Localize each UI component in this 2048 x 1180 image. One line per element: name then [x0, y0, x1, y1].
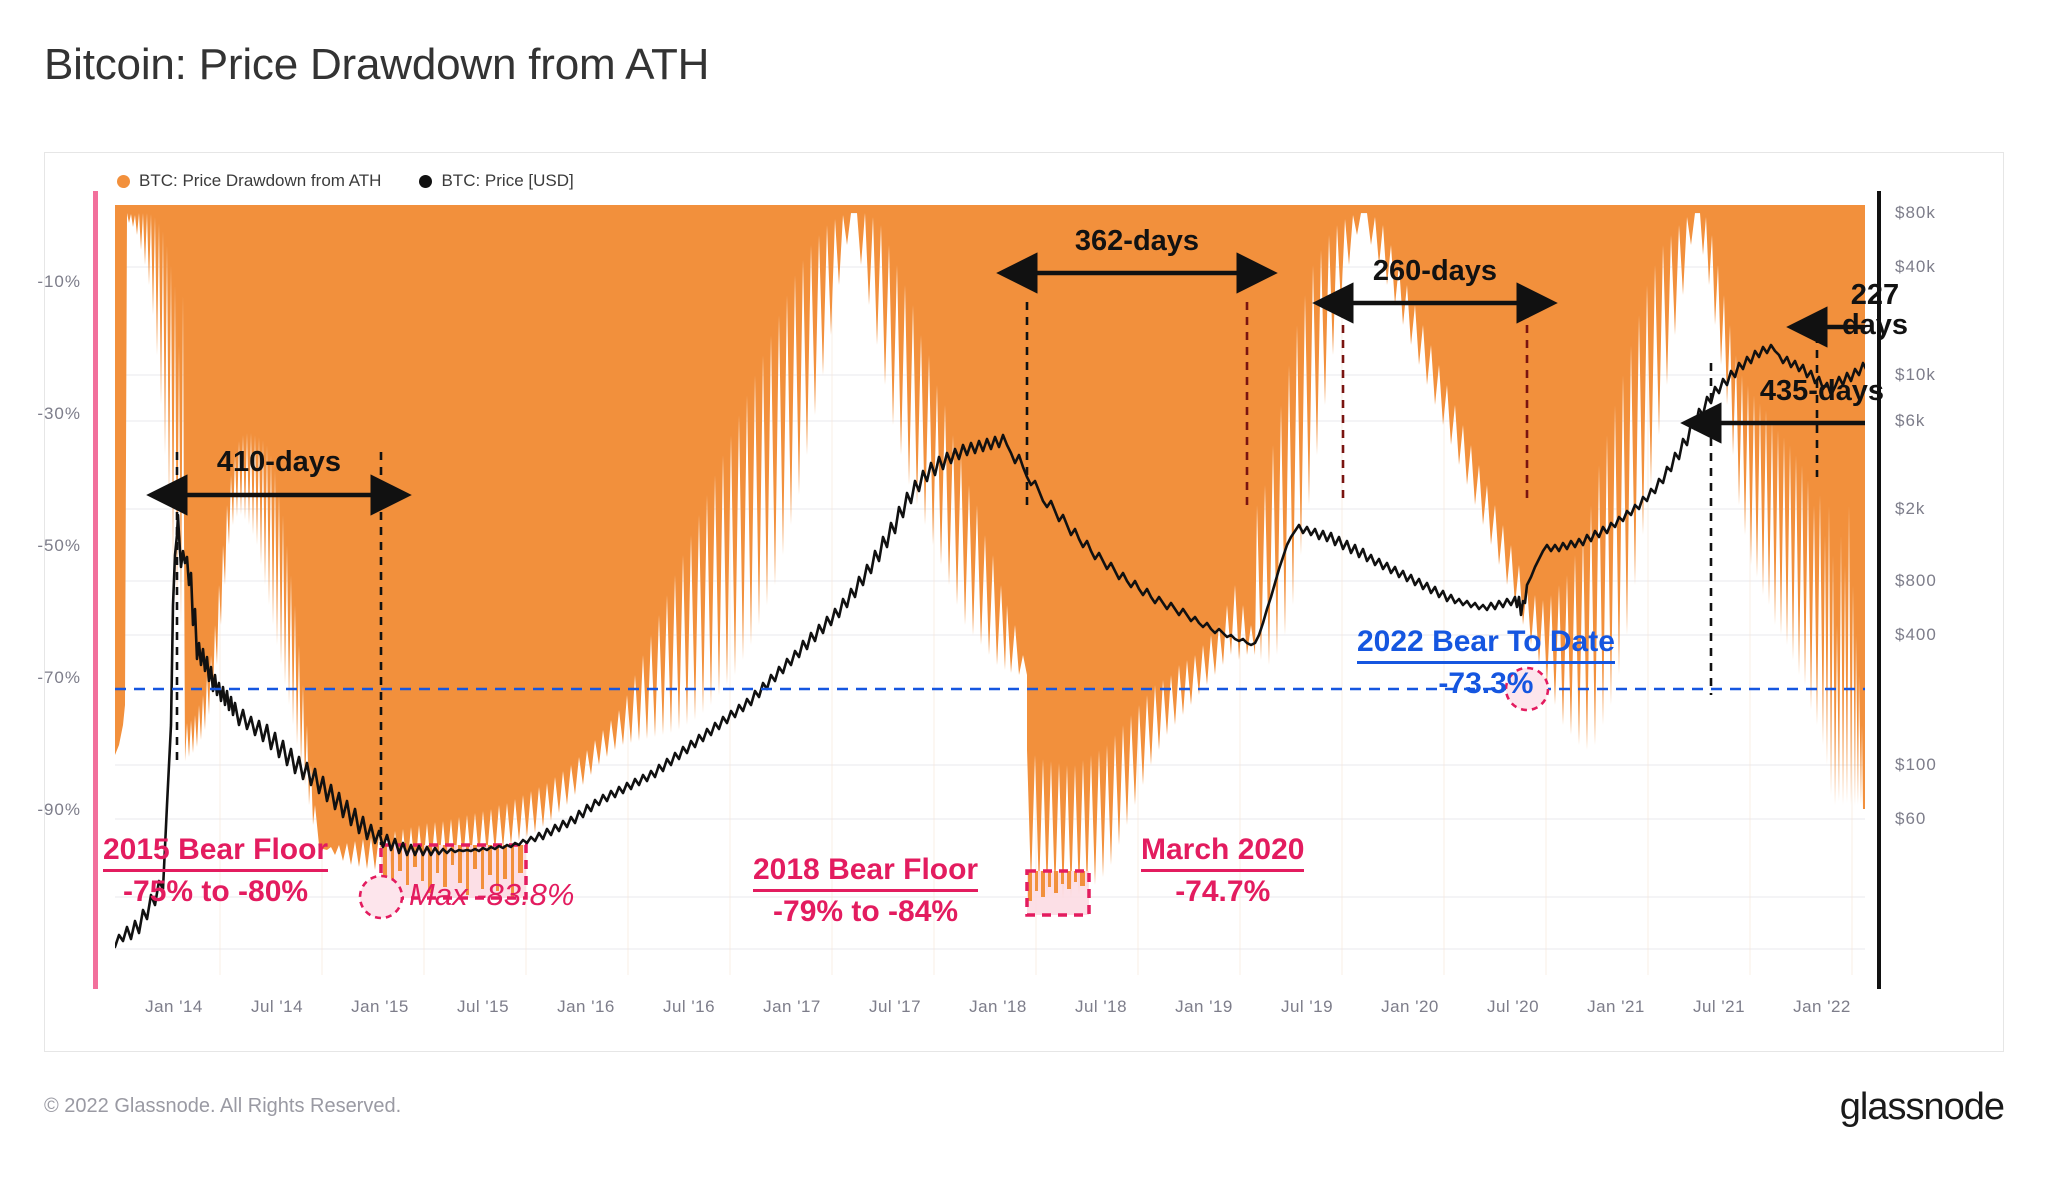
- ytick-right-400: $400: [1895, 625, 1937, 645]
- right-axis-spine: [1877, 191, 1881, 989]
- black-dot-icon: [419, 175, 432, 188]
- ytick-right-2k: $2k: [1895, 499, 1925, 519]
- plot-svg: [115, 205, 1865, 975]
- ytick-right-10k: $10k: [1895, 365, 1936, 385]
- chart-card: BTC: Price Drawdown from ATH BTC: Price …: [44, 152, 2004, 1052]
- xtick-jul20: Jul '20: [1487, 997, 1539, 1017]
- xtick-jul21: Jul '21: [1693, 997, 1745, 1017]
- legend-item-price[interactable]: BTC: Price [USD]: [419, 171, 573, 191]
- ytick-right-40k: $40k: [1895, 257, 1936, 277]
- chart-page: Bitcoin: Price Drawdown from ATH BTC: Pr…: [0, 0, 2048, 1180]
- xtick-jan19: Jan '19: [1175, 997, 1233, 1017]
- left-axis-spine: [93, 191, 98, 989]
- legend-label-price: BTC: Price [USD]: [441, 171, 573, 191]
- ytick-left-10: -10%: [37, 272, 81, 292]
- ytick-left-90: -90%: [37, 800, 81, 820]
- chart-legend: BTC: Price Drawdown from ATH BTC: Price …: [117, 171, 574, 191]
- ytick-right-100: $100: [1895, 755, 1937, 775]
- xtick-jan17: Jan '17: [763, 997, 821, 1017]
- xtick-jan22: Jan '22: [1793, 997, 1851, 1017]
- ytick-left-70: -70%: [37, 668, 81, 688]
- ytick-right-60: $60: [1895, 809, 1926, 829]
- series-drawdown-area: [115, 205, 1865, 899]
- ytick-left-50: -50%: [37, 536, 81, 556]
- xtick-jan20: Jan '20: [1381, 997, 1439, 1017]
- xtick-jul16: Jul '16: [663, 997, 715, 1017]
- footer-copyright: © 2022 Glassnode. All Rights Reserved.: [44, 1095, 401, 1118]
- xtick-jul15: Jul '15: [457, 997, 509, 1017]
- glassnode-logo: glassnode: [1840, 1086, 2004, 1129]
- ytick-right-80k: $80k: [1895, 203, 1936, 223]
- xtick-jul14: Jul '14: [251, 997, 303, 1017]
- ytick-right-6k: $6k: [1895, 411, 1925, 431]
- xtick-jul17: Jul '17: [869, 997, 921, 1017]
- xtick-jan14: Jan '14: [145, 997, 203, 1017]
- max-drawdown-point-marker: [360, 876, 402, 918]
- march-2020-point-marker: [1506, 668, 1548, 710]
- xtick-jul18: Jul '18: [1075, 997, 1127, 1017]
- xtick-jan15: Jan '15: [351, 997, 409, 1017]
- ytick-right-800: $800: [1895, 571, 1937, 591]
- xtick-jan16: Jan '16: [557, 997, 615, 1017]
- orange-dot-icon: [117, 175, 130, 188]
- plot-area: -10% -30% -50% -70% -90% $80k $40k $10k …: [115, 205, 1865, 975]
- xtick-jan21: Jan '21: [1587, 997, 1645, 1017]
- page-title: Bitcoin: Price Drawdown from ATH: [44, 40, 709, 90]
- ytick-left-30: -30%: [37, 404, 81, 424]
- legend-label-drawdown: BTC: Price Drawdown from ATH: [139, 171, 381, 191]
- xtick-jul19: Jul '19: [1281, 997, 1333, 1017]
- xtick-jan18: Jan '18: [969, 997, 1027, 1017]
- legend-item-drawdown[interactable]: BTC: Price Drawdown from ATH: [117, 171, 381, 191]
